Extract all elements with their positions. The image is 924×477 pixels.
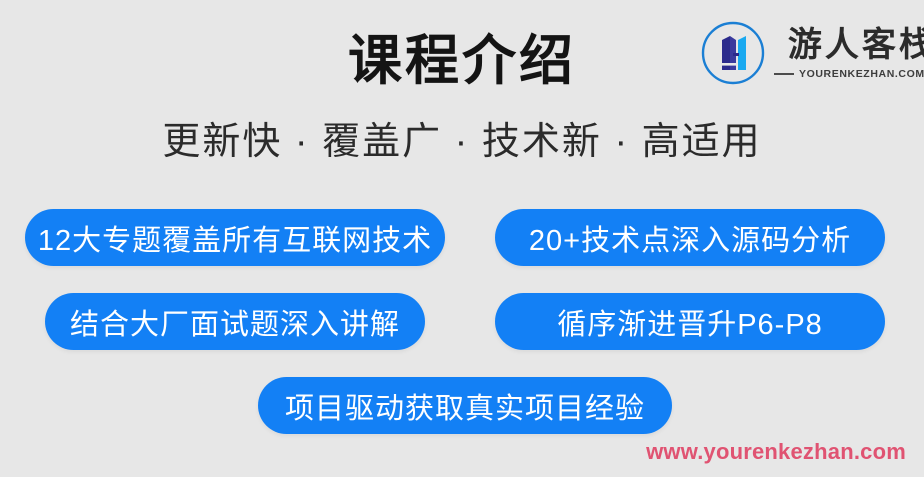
- page-subtitle: 更新快 · 覆盖广 · 技术新 · 高适用: [0, 120, 924, 166]
- site-watermark: www.yourenkezhan.com: [646, 439, 906, 465]
- feature-pill[interactable]: 20+技术点深入源码分析: [495, 209, 885, 266]
- feature-pill[interactable]: 12大专题覆盖所有互联网技术: [25, 209, 445, 266]
- feature-pill[interactable]: 项目驱动获取真实项目经验: [258, 377, 672, 434]
- feature-pill[interactable]: 结合大厂面试题深入讲解: [45, 293, 425, 350]
- slide-canvas: 游人客栈 YOURENKEZHAN.COM 课程介绍 更新快 · 覆盖广 · 技…: [0, 0, 924, 477]
- page-title: 课程介绍: [0, 30, 924, 94]
- feature-pill[interactable]: 循序渐进晋升P6-P8: [495, 293, 885, 350]
